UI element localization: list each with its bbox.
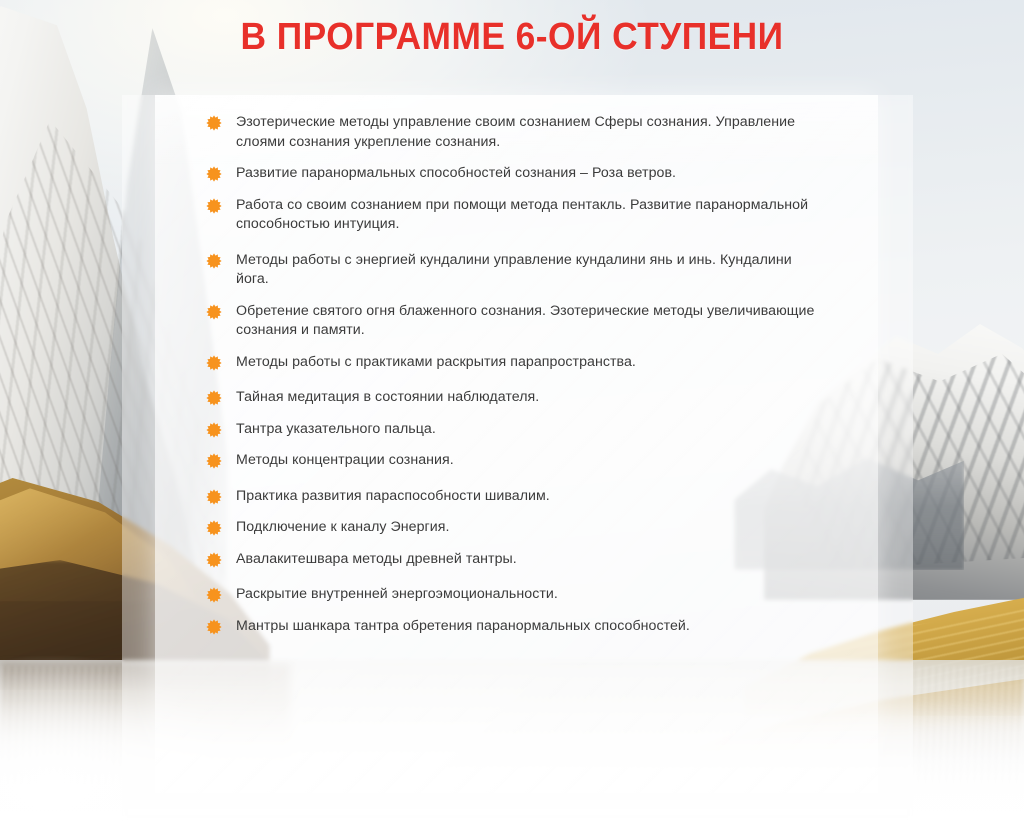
sunburst-bullet-icon <box>206 422 222 438</box>
list-item-label: Работа со своим сознанием при помощи мет… <box>236 196 826 235</box>
list-item-label: Методы работы с энергией кундалини управ… <box>236 251 826 290</box>
sunburst-bullet-icon <box>206 115 222 131</box>
sunburst-bullet-icon <box>206 198 222 214</box>
list-item-label: Обретение святого огня блаженного сознан… <box>236 302 826 341</box>
list-item: Обретение святого огня блаженного сознан… <box>206 302 826 341</box>
list-item-label: Тантра указательного пальца. <box>236 420 826 440</box>
list-item: Развитие паранормальных способностей соз… <box>206 164 826 184</box>
list-item: Практика развития параспособности шивали… <box>206 487 826 507</box>
list-item: Методы работы с энергией кундалини управ… <box>206 251 826 290</box>
list-item: Подключение к каналу Энергия. <box>206 518 826 538</box>
list-group: Практика развития параспособности шивали… <box>206 487 826 570</box>
list-group: Методы работы с энергией кундалини управ… <box>206 251 826 373</box>
sunburst-bullet-icon <box>206 453 222 469</box>
list-item-label: Подключение к каналу Энергия. <box>236 518 826 538</box>
list-item: Методы концентрации сознания. <box>206 451 826 471</box>
list-group: Раскрытие внутренней энергоэмоциональнос… <box>206 585 826 636</box>
list-item: Работа со своим сознанием при помощи мет… <box>206 196 826 235</box>
list-item: Авалакитешвара методы древней тантры. <box>206 550 826 570</box>
list-item-label: Тайная медитация в состоянии наблюдателя… <box>236 388 826 408</box>
list-item-label: Эзотерические методы управление своим со… <box>236 113 826 152</box>
list-item: Методы работы с практиками раскрытия пар… <box>206 353 826 373</box>
sunburst-bullet-icon <box>206 552 222 568</box>
list-item-label: Практика развития параспособности шивали… <box>236 487 826 507</box>
slide: В ПРОГРАММЕ 6-ОЙ СТУПЕНИ Эзотерические м… <box>0 0 1024 821</box>
sunburst-bullet-icon <box>206 355 222 371</box>
list-item-label: Раскрытие внутренней энергоэмоциональнос… <box>236 585 826 605</box>
sunburst-bullet-icon <box>206 619 222 635</box>
sunburst-bullet-icon <box>206 304 222 320</box>
list-group: Тайная медитация в состоянии наблюдателя… <box>206 388 826 471</box>
list-item: Тантра указательного пальца. <box>206 420 826 440</box>
program-list: Эзотерические методы управление своим со… <box>206 113 826 636</box>
list-item-label: Мантры шанкара тантра обретения паранорм… <box>236 617 826 637</box>
list-item: Эзотерические методы управление своим со… <box>206 113 826 152</box>
page-title: В ПРОГРАММЕ 6-ОЙ СТУПЕНИ <box>36 16 988 59</box>
list-item: Раскрытие внутренней энергоэмоциональнос… <box>206 585 826 605</box>
sunburst-bullet-icon <box>206 166 222 182</box>
sunburst-bullet-icon <box>206 390 222 406</box>
list-item-label: Методы концентрации сознания. <box>236 451 826 471</box>
list-item-label: Развитие паранормальных способностей соз… <box>236 164 826 184</box>
sunburst-bullet-icon <box>206 489 222 505</box>
list-item-label: Методы работы с практиками раскрытия пар… <box>236 353 826 373</box>
list-item: Мантры шанкара тантра обретения паранорм… <box>206 617 826 637</box>
sunburst-bullet-icon <box>206 520 222 536</box>
sunburst-bullet-icon <box>206 253 222 269</box>
list-group: Эзотерические методы управление своим со… <box>206 113 826 235</box>
sunburst-bullet-icon <box>206 587 222 603</box>
list-item: Тайная медитация в состоянии наблюдателя… <box>206 388 826 408</box>
list-item-label: Авалакитешвара методы древней тантры. <box>236 550 826 570</box>
